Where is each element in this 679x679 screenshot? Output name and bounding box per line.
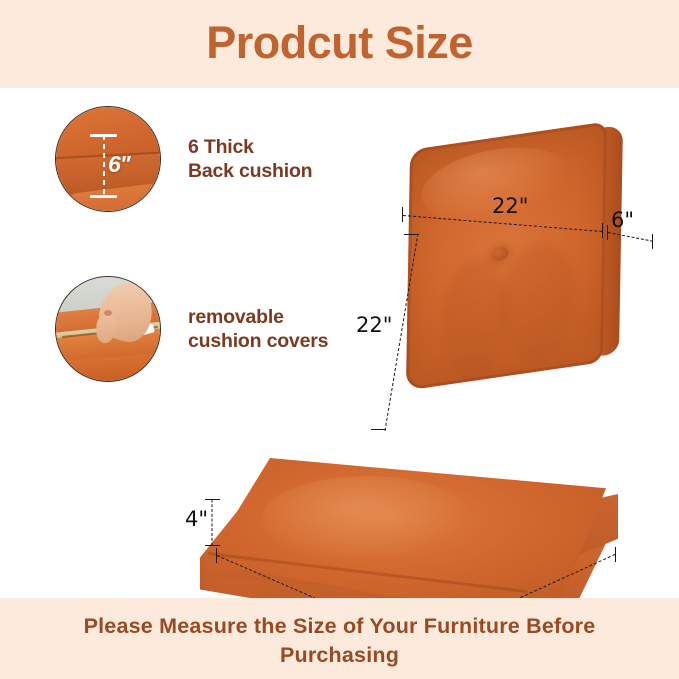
feature-callout-text-thick-back-cushion: 6 Thick Back cushion [188,135,312,183]
photo-thickness-tick-bottom [90,195,117,198]
dimension-tick-end [205,545,220,546]
dimension-label-back-width: 22" [492,194,528,218]
dimension-tick-end [602,223,603,238]
photo-thickness-label: 6" [108,151,130,178]
back-cushion [406,121,607,390]
feature-callout-text-removable-covers: removable cushion covers [188,305,328,353]
dimension-tick-end [371,429,386,430]
page-title: Prodcut Size [0,14,679,72]
footer-message-line-1: Please Measure the Size of Your Furnitur… [0,612,679,641]
dimension-tick-end [652,234,653,249]
photo-fingernail [104,310,112,316]
feature-callout-removable-covers: removable cushion covers [55,276,328,382]
feature-label-line-2: Back cushion [188,159,312,183]
photo-thickness-line [103,135,105,197]
feature-label-line-1: 6 Thick [188,135,312,159]
seat-cushion-highlight [262,476,472,562]
dimension-label-back-thickness: 6" [611,208,634,232]
infographic-stage: 22" 6" 22" 4" 22" 24" [0,88,679,598]
dimension-tick-start [216,548,217,563]
feature-label-line-1: removable [188,305,328,329]
footer-message: Please Measure the Size of Your Furnitur… [0,612,679,670]
photo-thickness-tick-top [90,134,117,137]
footer-message-line-2: Purchasing [0,641,679,670]
photo-thickness-marker [102,135,105,197]
dimension-tick-start [402,207,403,222]
dimension-label-back-height: 22" [356,313,392,337]
dimension-line [212,500,213,546]
dimension-tick-start [607,225,608,240]
dimension-tick-start [404,234,419,235]
dimension-tick-end [615,547,616,562]
dimension-label-seat-thickness: 4" [185,507,208,531]
removable-cover-photo [55,276,161,382]
feature-label-line-2: cushion covers [188,329,328,353]
back-cushion-thickness-photo: 6" [55,106,161,212]
dimension-tick-start [205,499,220,500]
feature-callout-thick-back-cushion: 6" 6 Thick Back cushion [55,106,312,212]
